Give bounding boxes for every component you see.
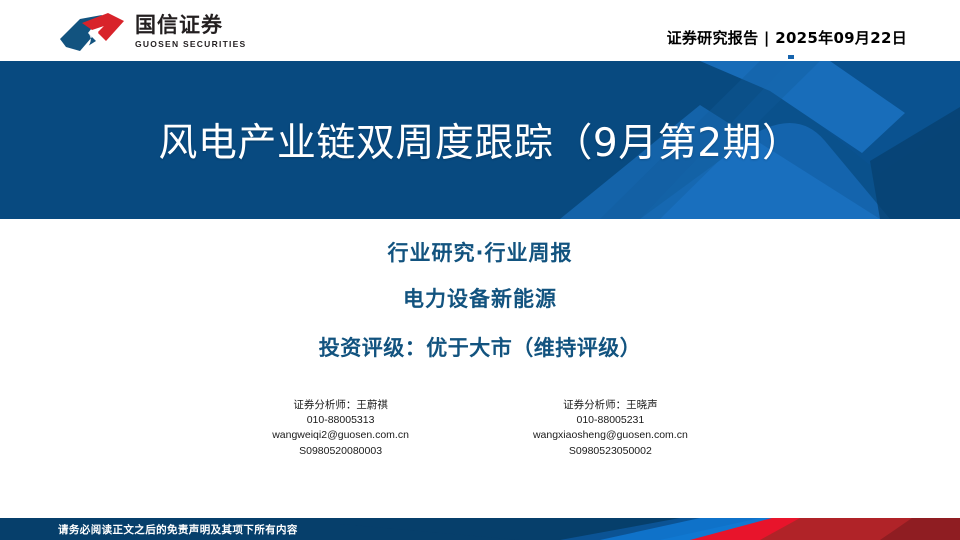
brand-logo: 国信证券 GUOSEN SECURITIES bbox=[58, 11, 246, 53]
brand-name-en: GUOSEN SECURITIES bbox=[135, 40, 246, 49]
guosen-diamond-logo-icon bbox=[58, 11, 126, 53]
analyst-email[interactable]: wangweiqi2@guosen.com.cn bbox=[272, 428, 409, 443]
investment-rating: 投资评级：优于大市（维持评级） bbox=[0, 332, 960, 362]
header-decorative-speck bbox=[788, 55, 794, 59]
report-title: 风电产业链双周度跟踪（9月第2期） bbox=[0, 61, 960, 219]
title-banner: 风电产业链双周度跟踪（9月第2期） bbox=[0, 61, 960, 219]
analyst-license: S0980520080003 bbox=[272, 444, 409, 459]
analyst-license: S0980523050002 bbox=[533, 444, 688, 459]
page-header: 国信证券 GUOSEN SECURITIES 证券研究报告 | 2025年09月… bbox=[0, 0, 960, 61]
brand-name-cn: 国信证券 bbox=[135, 15, 246, 36]
analyst-email[interactable]: wangxiaosheng@guosen.com.cn bbox=[533, 428, 688, 443]
footer-disclaimer: 请务必阅读正文之后的免责声明及其项下所有内容 bbox=[58, 518, 298, 540]
industry-sector: 电力设备新能源 bbox=[0, 283, 960, 313]
report-classification-block: 行业研究·行业周报 电力设备新能源 投资评级：优于大市（维持评级） bbox=[0, 219, 960, 362]
analyst-name: 证券分析师：王蔚祺 bbox=[272, 398, 409, 413]
analyst-card: 证券分析师：王蔚祺 010-88005313 wangweiqi2@guosen… bbox=[272, 398, 409, 459]
report-type-and-date: 证券研究报告 | 2025年09月22日 bbox=[667, 27, 907, 48]
research-category: 行业研究·行业周报 bbox=[0, 237, 960, 267]
analyst-phone: 010-88005313 bbox=[272, 413, 409, 428]
brand-wordmark: 国信证券 GUOSEN SECURITIES bbox=[135, 15, 246, 49]
page-footer: 请务必阅读正文之后的免责声明及其项下所有内容 bbox=[0, 518, 960, 540]
analyst-card: 证券分析师：王晓声 010-88005231 wangxiaosheng@guo… bbox=[533, 398, 688, 459]
report-cover-page: 国信证券 GUOSEN SECURITIES 证券研究报告 | 2025年09月… bbox=[0, 0, 960, 540]
analyst-list: 证券分析师：王蔚祺 010-88005313 wangweiqi2@guosen… bbox=[0, 398, 960, 459]
analyst-name: 证券分析师：王晓声 bbox=[533, 398, 688, 413]
analyst-phone: 010-88005231 bbox=[533, 413, 688, 428]
